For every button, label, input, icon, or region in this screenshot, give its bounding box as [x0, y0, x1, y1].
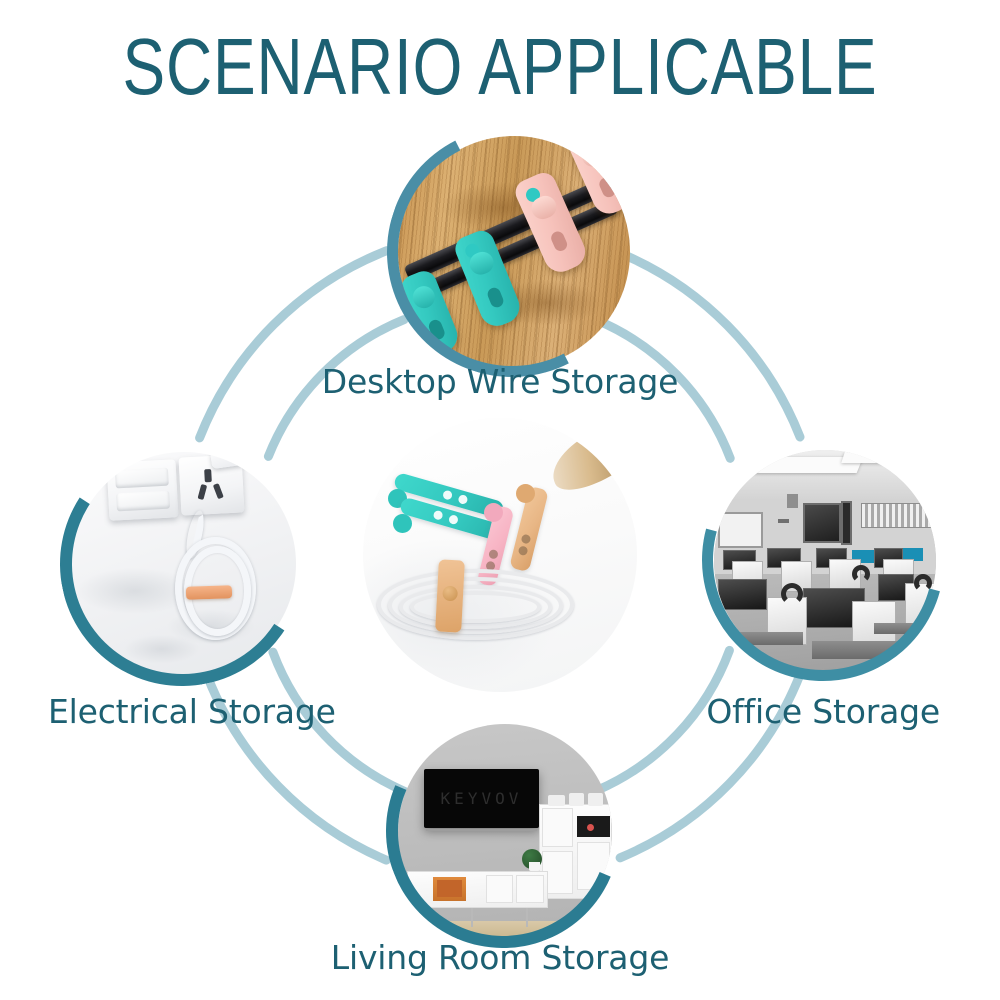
label-living-room-storage: Living Room Storage [0, 938, 1000, 978]
label-office-storage: Office Storage [706, 692, 940, 732]
tv-screen: KEYVOV [424, 769, 540, 827]
node-office-storage[interactable] [714, 450, 936, 672]
node-desktop-wire-storage[interactable] [398, 136, 630, 368]
photo-desktop-wire-storage [398, 136, 630, 368]
label-desktop-wire-storage: Desktop Wire Storage [0, 362, 1000, 402]
node-living-room-storage[interactable]: KEYVOV [398, 724, 612, 940]
photo-product-straps [363, 418, 637, 692]
node-product-center[interactable] [363, 418, 637, 692]
photo-office-storage [714, 450, 936, 672]
scenario-wheel-diagram: KEYVOV [0, 0, 1000, 1000]
label-electrical-storage: Electrical Storage [48, 692, 336, 732]
photo-electrical-storage [72, 452, 296, 676]
node-electrical-storage[interactable] [72, 452, 296, 676]
tv-logo-text: KEYVOV [441, 789, 523, 808]
photo-living-room-storage: KEYVOV [398, 724, 612, 940]
